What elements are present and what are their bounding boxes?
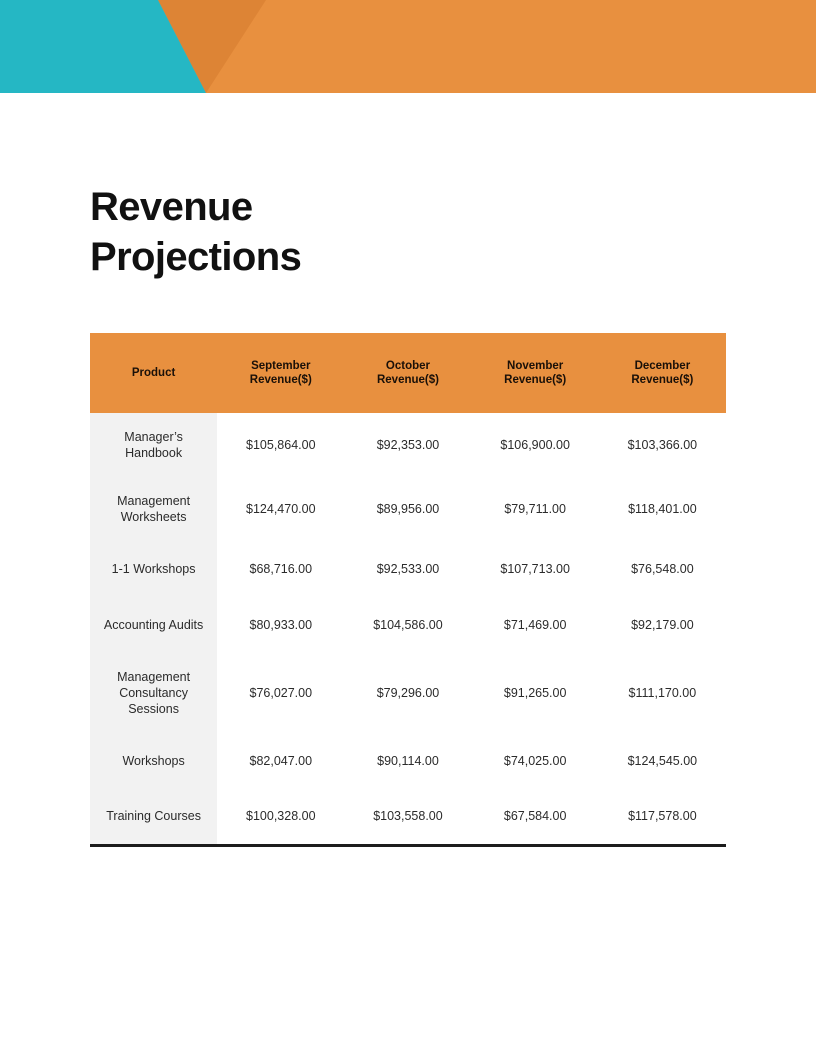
- column-header-november-line-1: November: [478, 359, 593, 373]
- revenue-projections-table: Product September Revenue($) October Rev…: [90, 333, 726, 847]
- product-name-cell: Accounting Audits: [90, 597, 217, 653]
- product-name-cell: Management Consultancy Sessions: [90, 653, 217, 733]
- column-header-december-line-2: Revenue($): [605, 373, 720, 387]
- column-header-september-line-1: September: [223, 359, 338, 373]
- september-value-cell: $80,933.00: [217, 597, 344, 653]
- october-value-cell: $90,114.00: [344, 733, 471, 789]
- november-value-cell: $79,711.00: [472, 477, 599, 541]
- december-value-cell: $124,545.00: [599, 733, 726, 789]
- october-value-cell: $104,586.00: [344, 597, 471, 653]
- column-header-november: November Revenue($): [472, 333, 599, 413]
- table-row: Workshops $82,047.00 $90,114.00 $74,025.…: [90, 733, 726, 789]
- october-value-cell: $92,353.00: [344, 413, 471, 477]
- column-header-december-line-1: December: [605, 359, 720, 373]
- column-header-september-line-2: Revenue($): [223, 373, 338, 387]
- september-value-cell: $82,047.00: [217, 733, 344, 789]
- product-name-cell: 1-1 Workshops: [90, 541, 217, 597]
- december-value-cell: $92,179.00: [599, 597, 726, 653]
- october-value-cell: $79,296.00: [344, 653, 471, 733]
- november-value-cell: $67,584.00: [472, 789, 599, 845]
- column-header-product-line-1: Product: [96, 366, 211, 380]
- product-name-cell: Training Courses: [90, 789, 217, 845]
- november-value-cell: $71,469.00: [472, 597, 599, 653]
- november-value-cell: $106,900.00: [472, 413, 599, 477]
- column-header-product: Product: [90, 333, 217, 413]
- december-value-cell: $76,548.00: [599, 541, 726, 597]
- december-value-cell: $111,170.00: [599, 653, 726, 733]
- table-row: Manager’s Handbook $105,864.00 $92,353.0…: [90, 413, 726, 477]
- column-header-october-line-2: Revenue($): [350, 373, 465, 387]
- page-title: Revenue Projections: [90, 182, 570, 282]
- october-value-cell: $92,533.00: [344, 541, 471, 597]
- revenue-table-container: Product September Revenue($) October Rev…: [90, 333, 726, 847]
- product-name-cell: Manager’s Handbook: [90, 413, 217, 477]
- september-value-cell: $124,470.00: [217, 477, 344, 541]
- november-value-cell: $74,025.00: [472, 733, 599, 789]
- september-value-cell: $100,328.00: [217, 789, 344, 845]
- october-value-cell: $89,956.00: [344, 477, 471, 541]
- table-row: Accounting Audits $80,933.00 $104,586.00…: [90, 597, 726, 653]
- decorative-header-banner: [0, 0, 816, 93]
- december-value-cell: $118,401.00: [599, 477, 726, 541]
- september-value-cell: $105,864.00: [217, 413, 344, 477]
- page-title-line-2: Projections: [90, 232, 570, 282]
- table-row: 1-1 Workshops $68,716.00 $92,533.00 $107…: [90, 541, 726, 597]
- page-title-line-1: Revenue: [90, 182, 570, 232]
- november-value-cell: $107,713.00: [472, 541, 599, 597]
- table-row: Management Consultancy Sessions $76,027.…: [90, 653, 726, 733]
- column-header-october: October Revenue($): [344, 333, 471, 413]
- column-header-november-line-2: Revenue($): [478, 373, 593, 387]
- product-name-cell: Management Worksheets: [90, 477, 217, 541]
- october-value-cell: $103,558.00: [344, 789, 471, 845]
- column-header-october-line-1: October: [350, 359, 465, 373]
- table-row: Training Courses $100,328.00 $103,558.00…: [90, 789, 726, 845]
- table-row: Management Worksheets $124,470.00 $89,95…: [90, 477, 726, 541]
- december-value-cell: $103,366.00: [599, 413, 726, 477]
- september-value-cell: $68,716.00: [217, 541, 344, 597]
- table-header-row: Product September Revenue($) October Rev…: [90, 333, 726, 413]
- column-header-september: September Revenue($): [217, 333, 344, 413]
- november-value-cell: $91,265.00: [472, 653, 599, 733]
- product-name-cell: Workshops: [90, 733, 217, 789]
- column-header-december: December Revenue($): [599, 333, 726, 413]
- september-value-cell: $76,027.00: [217, 653, 344, 733]
- december-value-cell: $117,578.00: [599, 789, 726, 845]
- table-body: Manager’s Handbook $105,864.00 $92,353.0…: [90, 413, 726, 845]
- table-header: Product September Revenue($) October Rev…: [90, 333, 726, 413]
